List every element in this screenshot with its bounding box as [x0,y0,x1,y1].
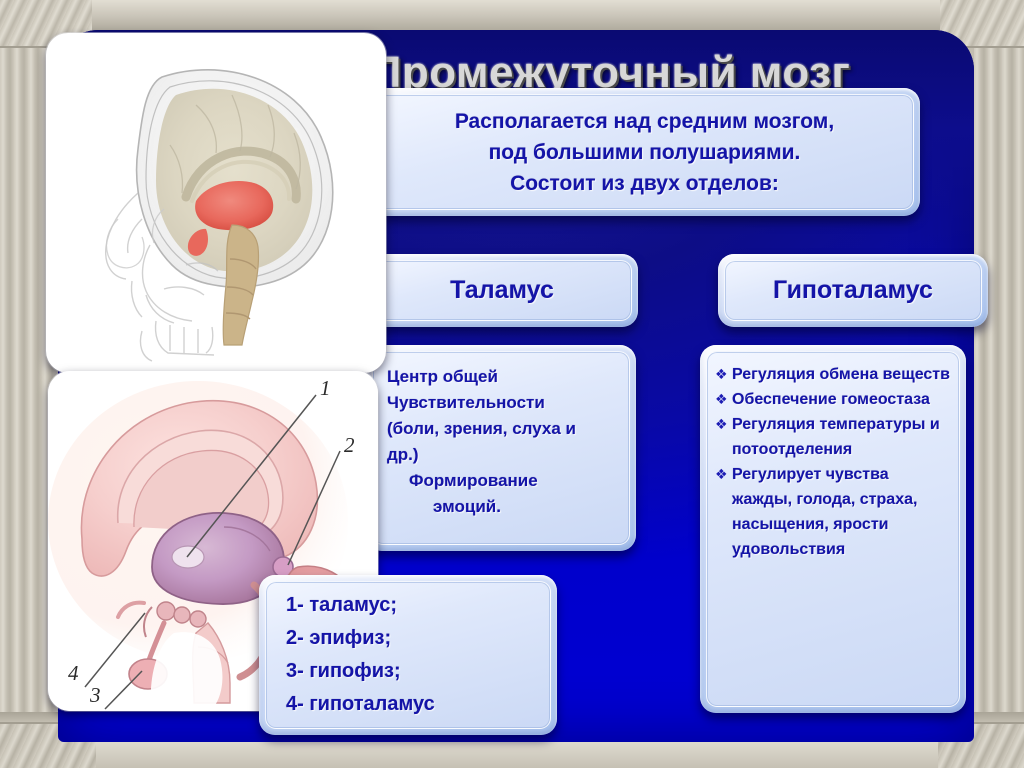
callout-number-3: 3 [90,683,101,708]
hypothalamus-bullet-2: Обеспечение гомеостаза [732,387,951,412]
diamond-bullet-icon: ❖ [715,362,732,387]
list-item: ❖ Регуляция температуры и потоотделения [715,412,951,462]
legend-item-1: 1- таламус; [286,589,540,622]
thalamus-header-box: Таламус [366,254,638,327]
hypothalamus-header-box: Гипоталамус [718,254,988,327]
thalamus-line-1: Центр общей [387,364,617,390]
subtitle-line-3: Состоит из двух отделов: [510,168,779,199]
legend-item-3: 3- гипофиз; [286,655,540,688]
thalamus-line-2: Чувствительности [387,390,617,416]
hypothalamus-header-label: Гипоталамус [773,276,933,305]
thalamus-header-label: Таламус [450,276,554,305]
subtitle-box: Располагается над средним мозгом, под бо… [369,88,920,216]
callout-number-1: 1 [320,376,331,401]
callout-number-4: 4 [68,661,79,686]
thalamus-line-3: (боли, зрения, слуха и [387,416,617,442]
legend-box: 1- таламус; 2- эпифиз; 3- гипофиз; 4- ги… [259,575,557,735]
thalamus-line-6: эмоций. [387,494,617,520]
diamond-bullet-icon: ❖ [715,412,732,437]
skull-mri-image [46,33,386,373]
legend-item-4: 4- гипоталамус [286,688,540,721]
diamond-bullet-icon: ❖ [715,387,732,412]
subtitle-line-1: Располагается над средним мозгом, [455,106,834,137]
thalamus-content-box: Центр общей Чувствительности (боли, зрен… [366,345,636,551]
list-item: ❖ Обеспечение гомеостаза [715,387,951,412]
thalamus-line-5: Формирование [387,468,617,494]
diamond-bullet-icon: ❖ [715,462,732,487]
callout-number-2: 2 [344,433,355,458]
skull-mri-illustration [46,33,386,373]
slide-canvas: Промежуточный мозг Располагается над сре… [0,0,1024,768]
subtitle-line-2: под большими полушариями. [489,137,801,168]
list-item: ❖ Регуляция обмена веществ [715,362,951,387]
right-column [974,0,1024,768]
hypothalamus-bullet-4: Регулирует чувства жажды, голода, страха… [732,462,951,562]
hypothalamus-bullet-1: Регуляция обмена веществ [732,362,951,387]
thalamus-line-4: др.) [387,442,617,468]
hypothalamus-bullet-3: Регуляция температуры и потоотделения [732,412,951,462]
hypothalamus-content-box: ❖ Регуляция обмена веществ ❖ Обеспечение… [700,345,966,713]
list-item: ❖ Регулирует чувства жажды, голода, стра… [715,462,951,562]
legend-item-2: 2- эпифиз; [286,622,540,655]
